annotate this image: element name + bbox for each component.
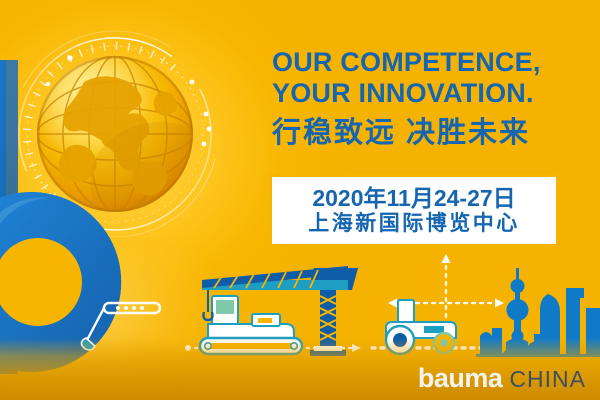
logo-brand-text: bauma bbox=[418, 365, 503, 392]
bauma-china-banner: OUR COMPETENCE, YOUR INNOVATION. 行稳致远 决胜… bbox=[0, 0, 600, 400]
logo-region-text: CHINA bbox=[509, 368, 586, 391]
event-date: 2020年11月24-27日 bbox=[312, 185, 515, 211]
headline-line-1: OUR COMPETENCE, bbox=[272, 47, 582, 78]
event-venue: 上海新国际博览中心 bbox=[308, 211, 520, 236]
headline-chinese: 行稳致远 决胜未来 bbox=[272, 116, 582, 150]
event-info-box: 2020年11月24-27日 上海新国际博览中心 bbox=[272, 177, 556, 244]
bauma-china-logo: bauma CHINA bbox=[418, 365, 586, 392]
headline-block: OUR COMPETENCE, YOUR INNOVATION. 行稳致远 决胜… bbox=[272, 47, 582, 150]
headline-line-2: YOUR INNOVATION. bbox=[272, 78, 582, 109]
